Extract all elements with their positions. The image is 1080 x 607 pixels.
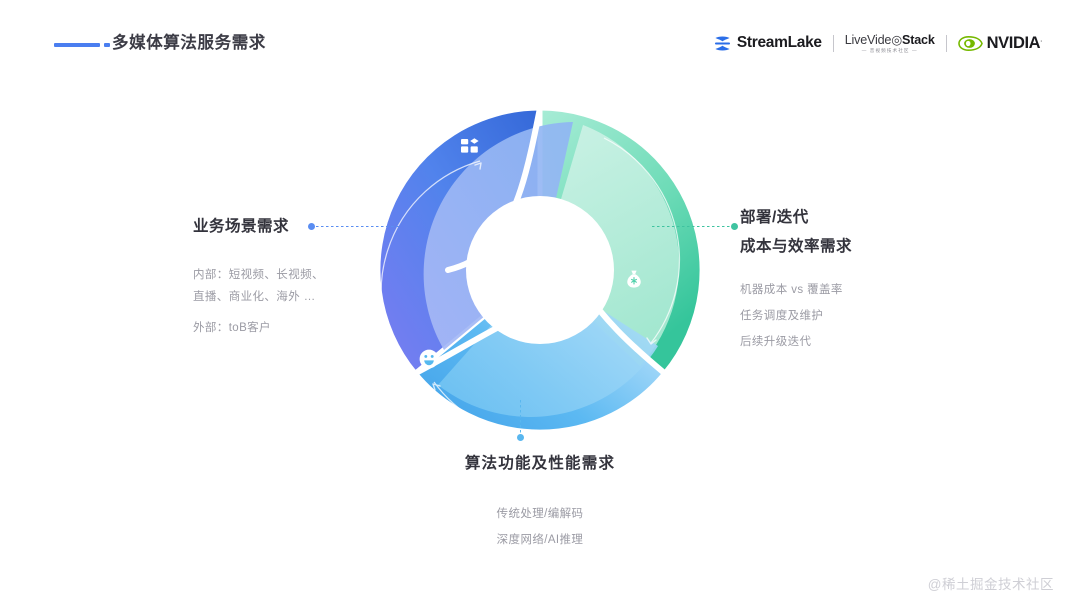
- title-accent-rule: [54, 43, 110, 47]
- label-algorithm: 算法功能及性能需求 传统处理/编解码 深度网络/AI推理: [0, 449, 1080, 553]
- logo-livevideostack: LiveVide◎Stack — 音视频技术社区 —: [845, 32, 935, 54]
- accent-dot: [104, 43, 110, 47]
- label-algorithm-line-2: 深度网络/AI推理: [0, 527, 1080, 553]
- label-cost-line-2: 任务调度及维护: [740, 303, 852, 329]
- page-title: 多媒体算法服务需求: [112, 31, 266, 55]
- cycle-diagram: [368, 98, 712, 442]
- connector-bottom-line: [520, 400, 521, 438]
- label-business-line-1: 内部：短视频、长视频、: [193, 264, 324, 286]
- slide-canvas: 多媒体算法服务需求 StreamLake LiveVide◎Stack — 音视…: [0, 0, 1080, 607]
- label-business: 业务场景需求 内部：短视频、长视频、 直播、商业化、海外 … 外部：toB客户: [193, 212, 324, 339]
- logo-nvidia: NVIDIA.: [958, 34, 1042, 53]
- label-business-line-3: 外部：toB客户: [193, 317, 324, 339]
- label-cost-heading-1: 部署/迭代: [740, 203, 852, 232]
- connector-left: [311, 226, 401, 227]
- logo-bar: StreamLake LiveVide◎Stack — 音视频技术社区 — NV…: [713, 30, 1042, 56]
- label-cost-line-3: 后续升级迭代: [740, 329, 852, 355]
- logo-divider-1: [833, 35, 834, 52]
- grid-icon: [460, 134, 482, 156]
- streamlake-mark-icon: [713, 34, 732, 53]
- label-cost-body: 机器成本 vs 覆盖率 任务调度及维护 后续升级迭代: [740, 277, 852, 355]
- connector-bottom: [520, 400, 521, 438]
- connector-left-line: [311, 226, 401, 227]
- smiley-icon: [418, 348, 440, 370]
- label-algorithm-line-1: 传统处理/编解码: [0, 501, 1080, 527]
- streamlake-wordmark: StreamLake: [737, 34, 822, 52]
- connector-right: [652, 226, 735, 227]
- nvidia-wordmark: NVIDIA.: [987, 34, 1042, 53]
- connector-right-line: [652, 226, 735, 227]
- money-bag-icon: [623, 268, 645, 290]
- connector-bottom-dot: [517, 434, 524, 441]
- slide-header: 多媒体算法服务需求 StreamLake LiveVide◎Stack — 音视…: [0, 0, 1080, 78]
- livevideostack-tagline: — 音视频技术社区 —: [862, 48, 918, 54]
- livevideostack-wordmark: LiveVide◎Stack: [845, 32, 935, 47]
- label-cost: 部署/迭代 成本与效率需求 机器成本 vs 覆盖率 任务调度及维护 后续升级迭代: [740, 203, 852, 355]
- label-business-heading: 业务场景需求: [193, 212, 324, 241]
- label-cost-line-1: 机器成本 vs 覆盖率: [740, 277, 852, 303]
- logo-divider-2: [946, 35, 947, 52]
- label-cost-heading-2: 成本与效率需求: [740, 232, 852, 261]
- nvidia-eye-icon: [958, 36, 983, 51]
- connector-right-dot: [731, 223, 738, 230]
- label-algorithm-heading: 算法功能及性能需求: [0, 449, 1080, 478]
- cycle-diagram-svg: [368, 98, 712, 442]
- diagram-center-hole: [466, 196, 614, 344]
- watermark: @稀土掘金技术社区: [928, 573, 1054, 593]
- label-business-line-2: 直播、商业化、海外 …: [193, 286, 324, 308]
- label-business-body: 内部：短视频、长视频、 直播、商业化、海外 … 外部：toB客户: [193, 264, 324, 339]
- logo-streamlake: StreamLake: [713, 34, 822, 53]
- accent-bar: [54, 43, 100, 47]
- label-algorithm-body: 传统处理/编解码 深度网络/AI推理: [0, 501, 1080, 553]
